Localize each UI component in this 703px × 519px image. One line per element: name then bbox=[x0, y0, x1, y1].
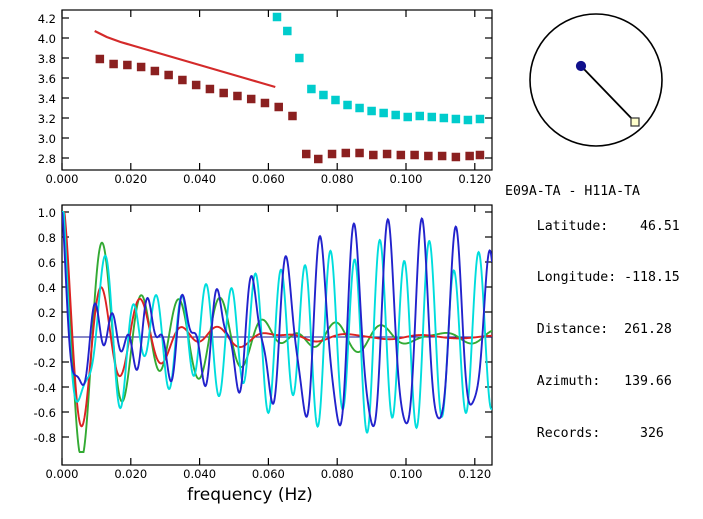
data-point-marker bbox=[328, 150, 336, 158]
data-point-marker bbox=[206, 85, 214, 93]
coherence-ytick--0-2: -0.2 bbox=[14, 356, 56, 370]
coherence-ytick-0-0: 0.0 bbox=[14, 331, 56, 345]
data-point-marker bbox=[411, 151, 419, 159]
data-point-marker bbox=[234, 92, 242, 100]
station-pair-label: E09A-TA - H11A-TA bbox=[505, 183, 703, 200]
azimuth-value: 139.66 bbox=[624, 374, 672, 389]
data-point-marker bbox=[151, 67, 159, 75]
records-label: Records: bbox=[537, 426, 601, 441]
data-point-marker bbox=[452, 115, 460, 123]
station-info-panel: E09A-TA - H11A-TA Latitude: 46.51 Longit… bbox=[505, 183, 703, 313]
data-point-marker bbox=[428, 113, 436, 121]
data-point-marker bbox=[302, 150, 310, 158]
dispersion-data-layer bbox=[0, 0, 500, 190]
latitude-label: Latitude: bbox=[537, 219, 608, 234]
coherence-ytick--0-4: -0.4 bbox=[14, 381, 56, 395]
coherence-ytick-1-0: 1.0 bbox=[14, 206, 56, 220]
data-point-marker bbox=[332, 96, 340, 104]
coherence-ytick--0-8: -0.8 bbox=[14, 431, 56, 445]
longitude-label: Longitude: bbox=[537, 270, 616, 285]
data-point-marker bbox=[438, 152, 446, 160]
coherence-plot: -0.8 -0.6 -0.4 -0.2 0.0 0.2 0.4 0.6 0.8 … bbox=[0, 195, 500, 485]
data-point-marker bbox=[342, 149, 350, 157]
latitude-row: Latitude: 46.51 bbox=[505, 200, 703, 252]
dispersion-plot: 2.8 3.0 3.2 3.4 3.6 3.8 4.0 4.2 0.000 0.… bbox=[0, 0, 500, 190]
coherence-ytick--0-6: -0.6 bbox=[14, 406, 56, 420]
coherence-plot-svg bbox=[0, 195, 500, 485]
data-point-marker bbox=[356, 149, 364, 157]
data-point-marker bbox=[397, 151, 405, 159]
data-point-marker bbox=[368, 107, 376, 115]
distance-label: Distance: bbox=[537, 322, 608, 337]
data-point-marker bbox=[96, 55, 104, 63]
data-point-marker bbox=[308, 85, 316, 93]
data-point-marker bbox=[137, 63, 145, 71]
coherence-xtick-4: 0.080 bbox=[307, 467, 367, 481]
data-point-marker bbox=[476, 115, 484, 123]
coherence-xtick-1: 0.020 bbox=[101, 467, 161, 481]
latitude-value: 46.51 bbox=[640, 219, 680, 234]
great-circle-map bbox=[500, 0, 703, 190]
data-point-marker bbox=[289, 112, 297, 120]
coherence-xtick-5: 0.100 bbox=[376, 467, 436, 481]
azimuth-label: Azimuth: bbox=[537, 374, 601, 389]
data-point-marker bbox=[476, 151, 484, 159]
x-axis-title: frequency (Hz) bbox=[0, 485, 500, 505]
data-point-marker bbox=[261, 99, 269, 107]
coherence-ytick-0-6: 0.6 bbox=[14, 256, 56, 270]
data-point-marker bbox=[284, 27, 292, 35]
data-point-marker bbox=[356, 104, 364, 112]
longitude-row: Longitude: -118.15 bbox=[505, 252, 703, 304]
data-point-marker bbox=[464, 116, 472, 124]
data-point-marker bbox=[404, 113, 412, 121]
data-point-marker bbox=[383, 150, 391, 158]
station-source-marker bbox=[577, 62, 586, 71]
data-point-marker bbox=[466, 152, 474, 160]
data-point-marker bbox=[392, 111, 400, 119]
data-point-marker bbox=[179, 76, 187, 84]
coherence-ytick-0-2: 0.2 bbox=[14, 306, 56, 320]
distance-value: 261.28 bbox=[624, 322, 672, 337]
great-circle-map-svg bbox=[500, 0, 703, 190]
azimuth-row: Azimuth: 139.66 bbox=[505, 356, 703, 408]
data-point-marker bbox=[380, 109, 388, 117]
data-point-marker bbox=[315, 155, 323, 163]
coherence-xtick-0: 0.000 bbox=[32, 467, 92, 481]
phase-velocity-cyan-markers bbox=[273, 13, 483, 124]
data-point-marker bbox=[273, 13, 281, 21]
data-point-marker bbox=[452, 153, 460, 161]
coherence-xtick-2: 0.040 bbox=[170, 467, 230, 481]
records-row: Records: 326 bbox=[505, 408, 703, 460]
globe-circle-icon bbox=[530, 14, 662, 146]
data-point-marker bbox=[440, 114, 448, 122]
data-point-marker bbox=[110, 60, 118, 68]
coherence-xtick-6: 0.120 bbox=[445, 467, 505, 481]
distance-row: Distance: 261.28 bbox=[505, 304, 703, 356]
data-point-marker bbox=[416, 112, 424, 120]
coherence-ytick-0-4: 0.4 bbox=[14, 281, 56, 295]
data-point-marker bbox=[247, 95, 255, 103]
data-point-marker bbox=[370, 151, 378, 159]
data-point-marker bbox=[344, 101, 352, 109]
coherence-ytick-0-8: 0.8 bbox=[14, 231, 56, 245]
data-point-marker bbox=[165, 71, 173, 79]
data-point-marker bbox=[296, 54, 304, 62]
data-point-marker bbox=[425, 152, 433, 160]
data-point-marker bbox=[320, 91, 328, 99]
coherence-xtick-3: 0.060 bbox=[238, 467, 298, 481]
data-point-marker bbox=[220, 89, 228, 97]
records-value: 326 bbox=[640, 426, 664, 441]
station-receiver-marker bbox=[631, 118, 639, 126]
data-point-marker bbox=[192, 81, 200, 89]
longitude-value: -118.15 bbox=[624, 270, 680, 285]
data-point-marker bbox=[124, 61, 132, 69]
group-velocity-darkred-markers bbox=[96, 55, 484, 163]
data-point-marker bbox=[275, 103, 283, 111]
